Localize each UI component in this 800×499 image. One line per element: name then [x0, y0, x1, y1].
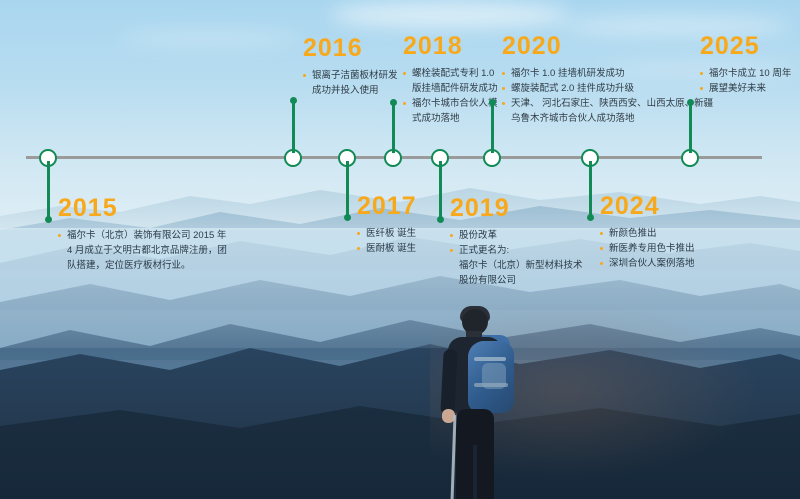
event-year-label: 2024 [600, 194, 695, 219]
timeline-event-2018[interactable]: 2018螺栓装配式专利 1.0版挂墙配件研发成功福尔卡城市合伙人模式成功落地 [403, 34, 498, 126]
event-description: 螺栓装配式专利 1.0版挂墙配件研发成功福尔卡城市合伙人模式成功落地 [403, 66, 498, 126]
event-bullet-line: 医耐板 诞生 [357, 241, 417, 256]
event-continuation-line: 福尔卡（北京）新型材料技术 [450, 258, 583, 273]
hiker-leg-gap [473, 445, 477, 499]
event-continuation-line: 队搭建，定位医疗板材行业。 [58, 258, 227, 273]
timeline-infographic: 2015福尔卡（北京）装饰有限公司 2015 年4 月成立于文明古都北京品牌注册… [0, 0, 800, 499]
event-year-label: 2016 [303, 36, 398, 61]
event-continuation-line: 式成功落地 [403, 111, 498, 126]
event-bullet-line: 医纤板 诞生 [357, 226, 417, 241]
event-bullet-line: 福尔卡（北京）装饰有限公司 2015 年 [58, 228, 227, 243]
timeline-event-2024[interactable]: 2024新颜色推出新医养专用色卡推出深圳合伙人案例落地 [600, 194, 695, 271]
event-bullet-line: 福尔卡成立 10 周年 [700, 66, 791, 81]
event-bullet-line: 正式更名为: [450, 243, 583, 258]
event-bullet-line: 银离子洁菌板材研发 [303, 68, 398, 83]
timeline-stem-2016 [292, 101, 295, 153]
timeline-stem-2017 [346, 161, 349, 217]
timeline-event-2019[interactable]: 2019股份改革正式更名为:福尔卡（北京）新型材料技术股份有限公司 [450, 196, 583, 288]
timeline-event-2016[interactable]: 2016银离子洁菌板材研发成功并投入使用 [303, 36, 398, 98]
event-year-label: 2018 [403, 34, 498, 59]
timeline-stem-dot-2015 [45, 216, 52, 223]
event-year-label: 2020 [502, 34, 713, 59]
event-bullet-line: 天津、 河北石家庄、陕西西安、山西太原、新疆 [502, 96, 713, 111]
timeline-stem-dot-2019 [437, 216, 444, 223]
event-continuation-line: 乌鲁木齐城市合伙人成功落地 [502, 111, 713, 126]
event-description: 福尔卡成立 10 周年展望美好未来 [700, 66, 791, 96]
event-year-label: 2025 [700, 34, 791, 59]
event-description: 银离子洁菌板材研发成功并投入使用 [303, 68, 398, 98]
event-bullet-line: 螺旋装配式 2.0 挂件成功升级 [502, 81, 713, 96]
timeline-stem-dot-2018 [390, 99, 397, 106]
timeline-event-2015[interactable]: 2015福尔卡（北京）装饰有限公司 2015 年4 月成立于文明古都北京品牌注册… [58, 196, 227, 273]
event-bullet-line: 新颜色推出 [600, 226, 695, 241]
event-year-label: 2017 [357, 194, 417, 219]
timeline-event-2020[interactable]: 2020福尔卡 1.0 挂墙机研发成功螺旋装配式 2.0 挂件成功升级天津、 河… [502, 34, 713, 126]
timeline-stem-dot-2016 [290, 97, 297, 104]
timeline-event-2017[interactable]: 2017医纤板 诞生医耐板 诞生 [357, 194, 417, 256]
backpack-strap [474, 357, 506, 361]
timeline-stem-2018 [392, 103, 395, 153]
timeline-stem-dot-2017 [344, 214, 351, 221]
timeline-stem-2024 [589, 161, 592, 217]
event-bullet-line: 福尔卡城市合伙人模 [403, 96, 498, 111]
event-description: 福尔卡 1.0 挂墙机研发成功螺旋装配式 2.0 挂件成功升级天津、 河北石家庄… [502, 66, 713, 126]
event-bullet-line: 新医养专用色卡推出 [600, 241, 695, 256]
event-bullet-line: 螺栓装配式专利 1.0 [403, 66, 498, 81]
cloud [330, 2, 570, 28]
timeline-stem-dot-2024 [587, 214, 594, 221]
event-bullet-line: 展望美好未来 [700, 81, 791, 96]
timeline-stem-2020 [491, 103, 494, 153]
event-description: 医纤板 诞生医耐板 诞生 [357, 226, 417, 256]
event-continuation-line: 股份有限公司 [450, 273, 583, 288]
event-year-label: 2019 [450, 196, 583, 221]
hiker-figure [430, 305, 540, 499]
timeline-event-2025[interactable]: 2025福尔卡成立 10 周年展望美好未来 [700, 34, 791, 96]
timeline-stem-2015 [47, 161, 50, 219]
timeline-stem-2025 [689, 103, 692, 153]
event-bullet-line: 深圳合伙人案例落地 [600, 256, 695, 271]
event-continuation-line: 版挂墙配件研发成功 [403, 81, 498, 96]
event-year-label: 2015 [58, 196, 227, 221]
timeline-stem-dot-2020 [489, 99, 496, 106]
timeline-stem-dot-2025 [687, 99, 694, 106]
event-bullet-line: 股份改革 [450, 228, 583, 243]
event-continuation-line: 成功并投入使用 [303, 83, 398, 98]
event-description: 福尔卡（北京）装饰有限公司 2015 年4 月成立于文明古都北京品牌注册，团队搭… [58, 228, 227, 273]
event-description: 股份改革正式更名为:福尔卡（北京）新型材料技术股份有限公司 [450, 228, 583, 288]
event-continuation-line: 4 月成立于文明古都北京品牌注册，团 [58, 243, 227, 258]
event-bullet-line: 福尔卡 1.0 挂墙机研发成功 [502, 66, 713, 81]
cloud [120, 30, 300, 46]
backpack-strap [474, 383, 508, 387]
timeline-stem-2019 [439, 161, 442, 219]
event-description: 新颜色推出新医养专用色卡推出深圳合伙人案例落地 [600, 226, 695, 271]
